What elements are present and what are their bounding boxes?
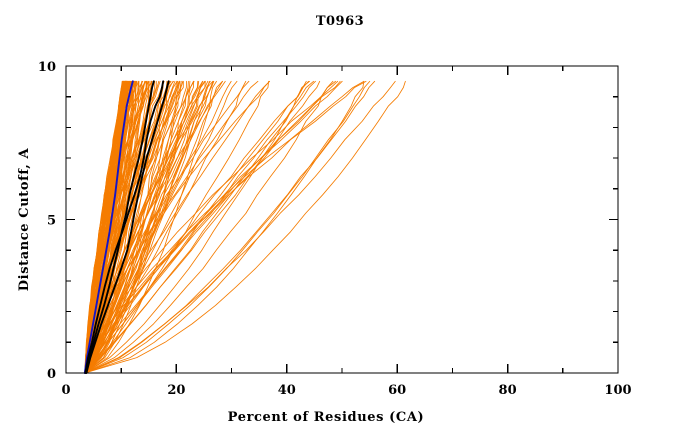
plot-window: T0963 0204060801000510Percent of Residue… (0, 0, 680, 440)
distance-cutoff-chart: 0204060801000510Percent of Residues (CA)… (0, 0, 680, 440)
y-tick-label: 5 (47, 214, 56, 229)
x-tick-label: 60 (388, 383, 406, 398)
x-tick-label: 20 (167, 383, 185, 398)
y-axis-title: Distance Cutoff, A (17, 147, 32, 291)
x-tick-label: 100 (604, 383, 631, 398)
y-tick-label: 0 (47, 367, 56, 382)
x-axis-title: Percent of Residues (CA) (228, 410, 425, 425)
x-tick-label: 80 (499, 383, 517, 398)
x-tick-label: 40 (278, 383, 296, 398)
curves-layer (85, 81, 406, 373)
x-tick-label: 0 (61, 383, 70, 398)
y-tick-label: 10 (38, 60, 56, 75)
ensemble-curve (85, 81, 374, 373)
